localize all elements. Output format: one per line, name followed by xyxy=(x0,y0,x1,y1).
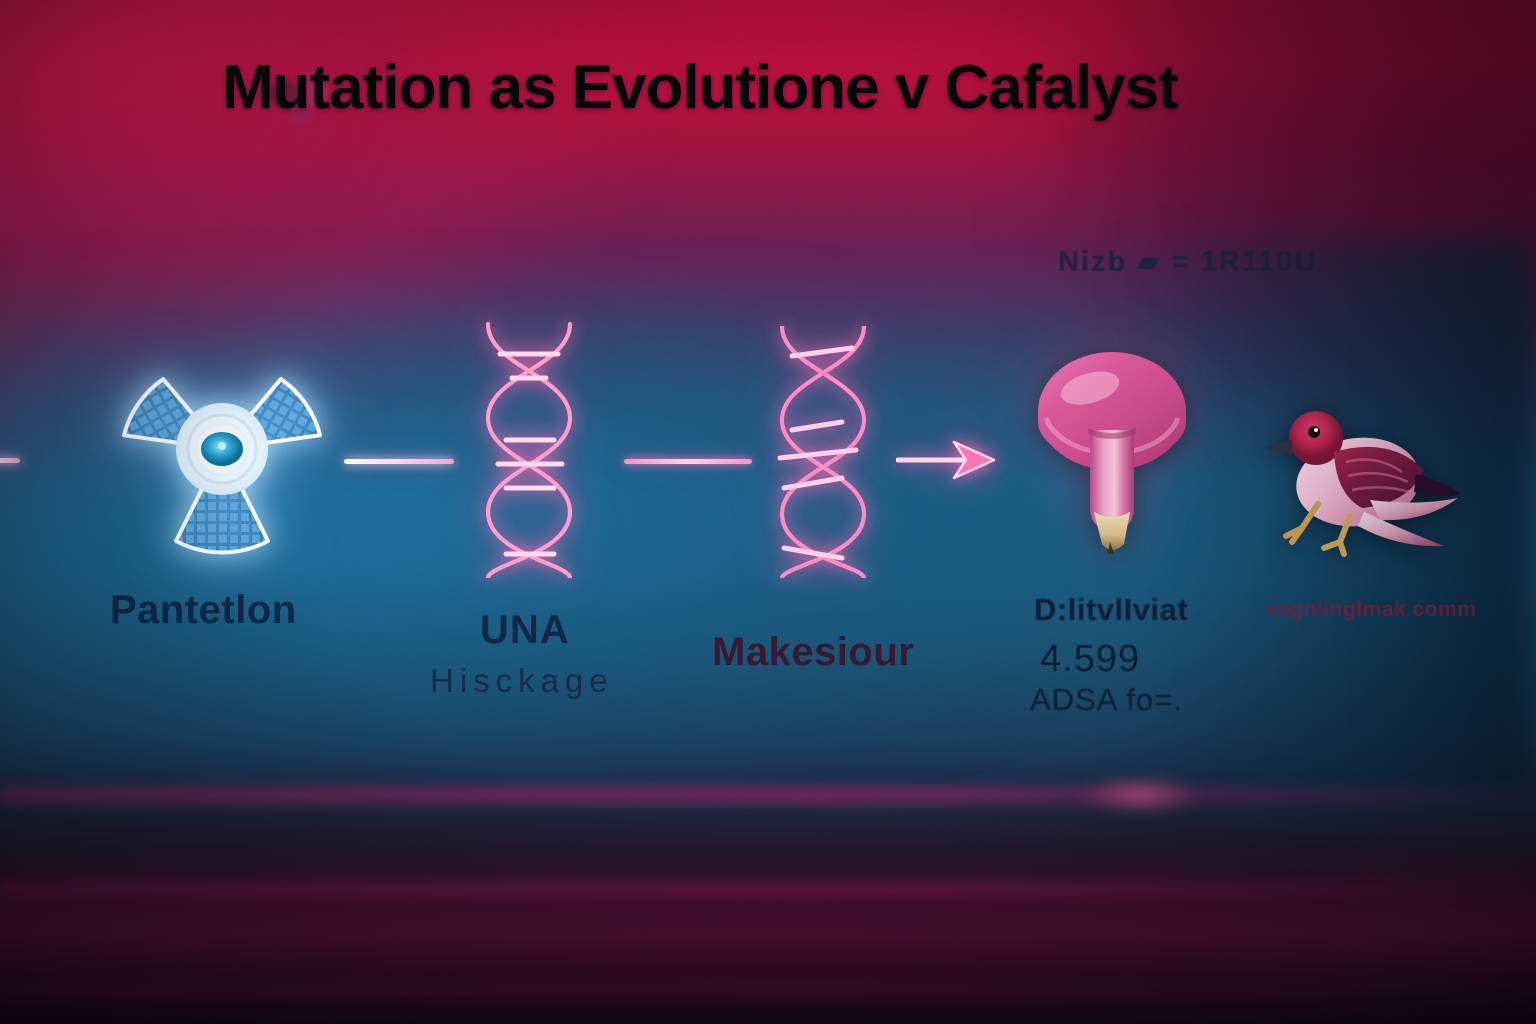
lens-flare-hotspot xyxy=(1080,778,1200,812)
node-sublabel-dna: Hisckage xyxy=(430,662,614,700)
dna-helix-icon xyxy=(466,322,592,578)
page-title: Mutation as Evolutione v Cafalyst xyxy=(222,52,1402,123)
lower-light-band-1 xyxy=(0,788,1536,802)
lower-light-band-2 xyxy=(0,884,1536,895)
node-label-radiation: Pantetlon xyxy=(110,588,297,633)
connector-line-edge xyxy=(0,458,20,463)
node-label-dna-mutated: Makesiour xyxy=(712,630,914,675)
readout-text: Nizb ▰ = 1R110U xyxy=(1058,244,1398,288)
node-label-dna: UNA xyxy=(480,608,570,653)
node-extra-mushroom: ADSA fo=. xyxy=(1030,682,1183,718)
lower-light-band-3 xyxy=(0,985,1536,995)
connector-line-2 xyxy=(624,459,752,464)
node-value-mushroom: 4.599 xyxy=(1040,638,1140,681)
watermark-text: vegniinglmak comm xyxy=(1266,598,1476,622)
bird-icon xyxy=(1258,386,1464,558)
mushroom-icon xyxy=(1026,344,1198,556)
poster-canvas: Mutation as Evolutione v Cafalyst Nizb ▰… xyxy=(0,0,1536,1024)
flow-arrow-icon xyxy=(896,438,1000,482)
dna-helix-mutated-icon xyxy=(762,326,888,578)
node-label-mushroom: D:litvlIviat xyxy=(1034,592,1188,628)
radiation-trefoil-icon xyxy=(108,336,336,562)
connector-line-1 xyxy=(344,459,454,464)
